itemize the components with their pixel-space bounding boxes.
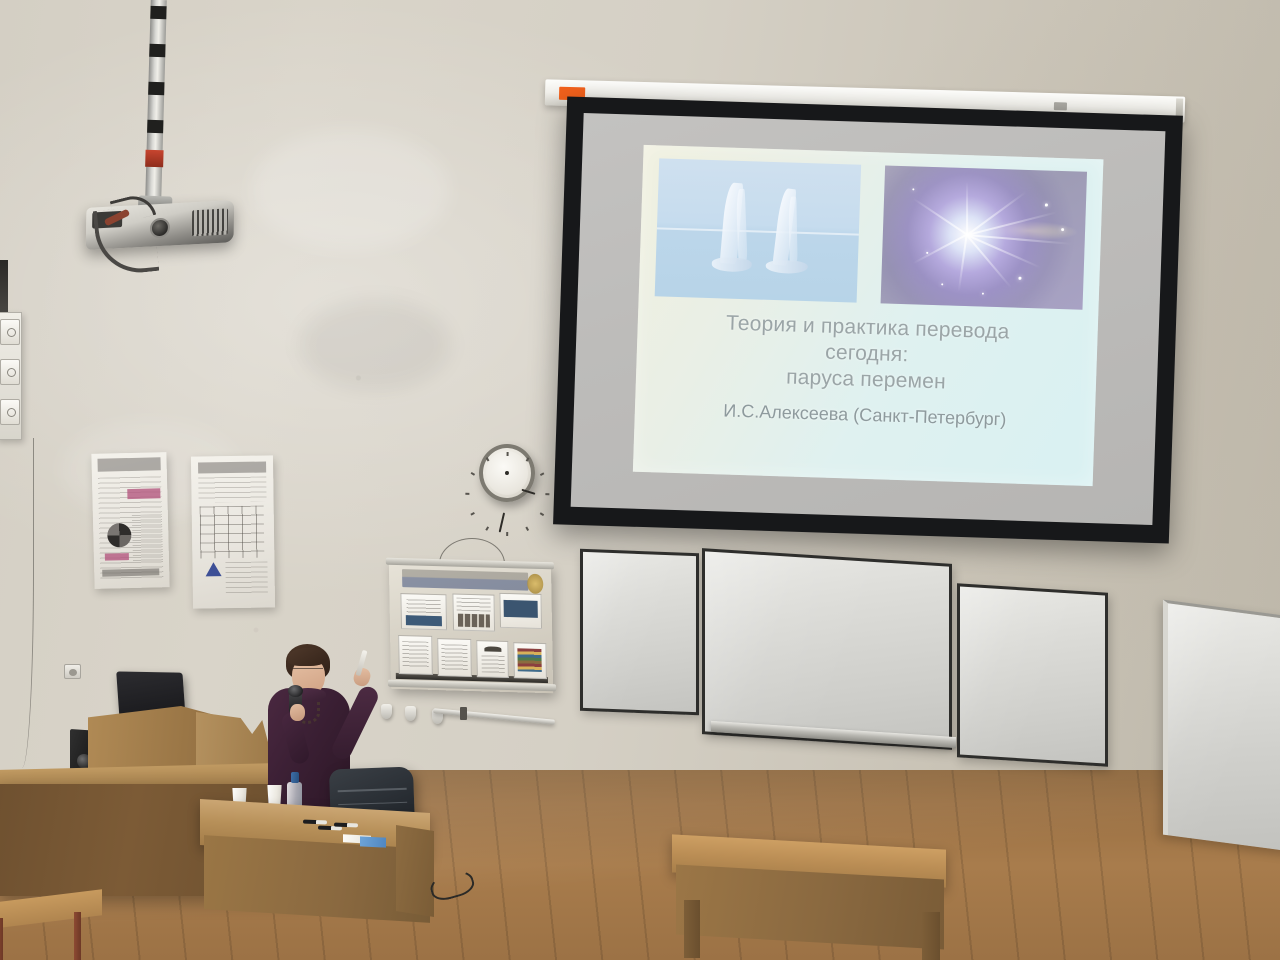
marker-black[interactable] <box>334 823 358 828</box>
power-outlet[interactable] <box>64 664 81 679</box>
info-board-card <box>437 638 472 677</box>
card-text-lines <box>481 655 504 673</box>
info-board-card <box>453 593 496 631</box>
slide-author: И.С.Алексеева (Санкт-Петербург) <box>662 399 1067 433</box>
whiteboard-sheen <box>1168 603 1280 851</box>
poster-header-band <box>97 458 160 472</box>
projector-vent <box>192 208 228 236</box>
slide-image-cosmic-burst <box>880 166 1087 310</box>
bench-leg <box>684 900 700 958</box>
panel-knob-icon <box>7 368 16 377</box>
star-icon <box>982 292 984 294</box>
bench-leg <box>922 912 940 960</box>
wall-blotch <box>250 130 450 250</box>
info-board-card <box>476 640 509 678</box>
poster-highlight <box>127 489 160 499</box>
small-table-leg <box>74 912 81 960</box>
star-icon <box>1045 204 1048 207</box>
card-image <box>406 615 443 626</box>
panel-breaker-row[interactable] <box>0 399 20 425</box>
burst-ray <box>959 235 968 291</box>
marker-black[interactable] <box>303 820 327 825</box>
chair-seam <box>338 788 407 792</box>
info-board-card <box>401 593 447 630</box>
clock-tick <box>465 493 469 495</box>
lecture-hall-scene: Теория и практика перевода сегодня: пару… <box>0 0 1280 960</box>
panel-knob-icon <box>7 328 16 337</box>
boat-sail <box>736 189 748 260</box>
slide-text-block: Теория и практика перевода сегодня: пару… <box>662 309 1070 433</box>
clock-face <box>486 451 529 496</box>
poster-text-lines <box>132 514 163 563</box>
presenter-hair-fringe <box>288 648 328 666</box>
wall-conduit <box>0 260 8 318</box>
clock-tick <box>507 452 509 456</box>
card-text-lines <box>457 598 491 611</box>
pole-segment <box>148 82 164 95</box>
boat-sail <box>789 197 798 263</box>
sailboat <box>708 182 768 283</box>
poster-table <box>200 506 265 559</box>
whiteboard-sheen <box>583 552 696 712</box>
card-icon <box>484 646 501 652</box>
color-swatches <box>518 649 543 673</box>
projection-screen[interactable]: Теория и практика перевода сегодня: пару… <box>553 96 1183 543</box>
whiteboard-panel-right[interactable] <box>957 583 1108 767</box>
housing-label <box>1054 102 1067 110</box>
clock-center-pin <box>505 471 509 475</box>
star-icon <box>912 189 914 191</box>
burst-ray <box>913 198 968 235</box>
electrical-panel[interactable] <box>0 312 22 440</box>
department-info-board <box>389 561 553 694</box>
presenter-mic-hand <box>290 704 305 721</box>
poster-highlight <box>104 553 128 560</box>
poster-header-band <box>198 462 267 474</box>
paper-blue[interactable] <box>360 836 386 847</box>
poster-footer-band <box>102 568 159 576</box>
presentation-slide: Теория и практика перевода сегодня: пару… <box>633 144 1103 485</box>
panel-breaker-row[interactable] <box>0 359 20 385</box>
pole-segment <box>150 6 166 19</box>
university-seal-icon <box>527 574 543 594</box>
bottle-cap <box>291 772 299 783</box>
clock-tick <box>507 532 509 536</box>
star-icon <box>926 252 928 254</box>
whiteboard-panel-left[interactable] <box>580 549 699 716</box>
pole-red-band <box>145 150 163 167</box>
small-table-leg <box>0 918 3 960</box>
boat-hull <box>765 259 807 274</box>
card-text-lines <box>441 644 467 671</box>
pole-segment <box>149 44 165 57</box>
rail-clip <box>460 707 467 720</box>
burst-ray <box>967 191 1027 235</box>
wooden-bench-front <box>676 865 944 950</box>
whiteboard-panel-center[interactable] <box>702 548 952 750</box>
panel-breaker-row[interactable] <box>0 319 20 345</box>
burst-ray <box>967 234 1072 245</box>
poster-triangle-logo-icon <box>206 563 222 577</box>
poster-text-lines <box>225 562 268 596</box>
card-photo-grid <box>458 614 490 628</box>
burst-ray <box>967 235 1012 288</box>
chair-seam <box>339 801 408 805</box>
whiteboard-sheen <box>705 551 949 746</box>
projection-screen-surface: Теория и практика перевода сегодня: пару… <box>571 113 1166 525</box>
microphone-head-icon <box>288 685 303 697</box>
boat-hull <box>712 257 752 272</box>
info-board-card <box>500 593 543 629</box>
sailboat <box>763 188 823 286</box>
panel-knob-icon <box>7 408 16 417</box>
lecturer-desk-side <box>396 825 434 917</box>
presenter-glasses-icon <box>293 668 323 675</box>
clock-tick <box>545 493 549 495</box>
burst-ray <box>966 182 968 235</box>
clock-tick <box>486 457 489 461</box>
wall-poster-left <box>91 452 169 589</box>
whiteboard-sheen <box>960 586 1105 763</box>
pole-segment <box>147 120 163 133</box>
wall-poster-right <box>191 455 275 608</box>
info-board-card <box>513 642 546 679</box>
poster-text-lines <box>198 477 267 502</box>
star-icon <box>1061 228 1064 231</box>
slide-image-sailboats <box>655 159 862 303</box>
star-icon <box>941 283 943 285</box>
clock-tick <box>526 457 529 461</box>
card-image <box>504 600 538 619</box>
star-icon <box>1018 277 1021 280</box>
burst-ray <box>913 234 967 264</box>
poster-pie-chart <box>107 523 132 548</box>
wall-blotch <box>300 300 450 390</box>
whiteboard-panel-far-right[interactable] <box>1163 600 1280 852</box>
info-board-heading <box>402 569 529 590</box>
